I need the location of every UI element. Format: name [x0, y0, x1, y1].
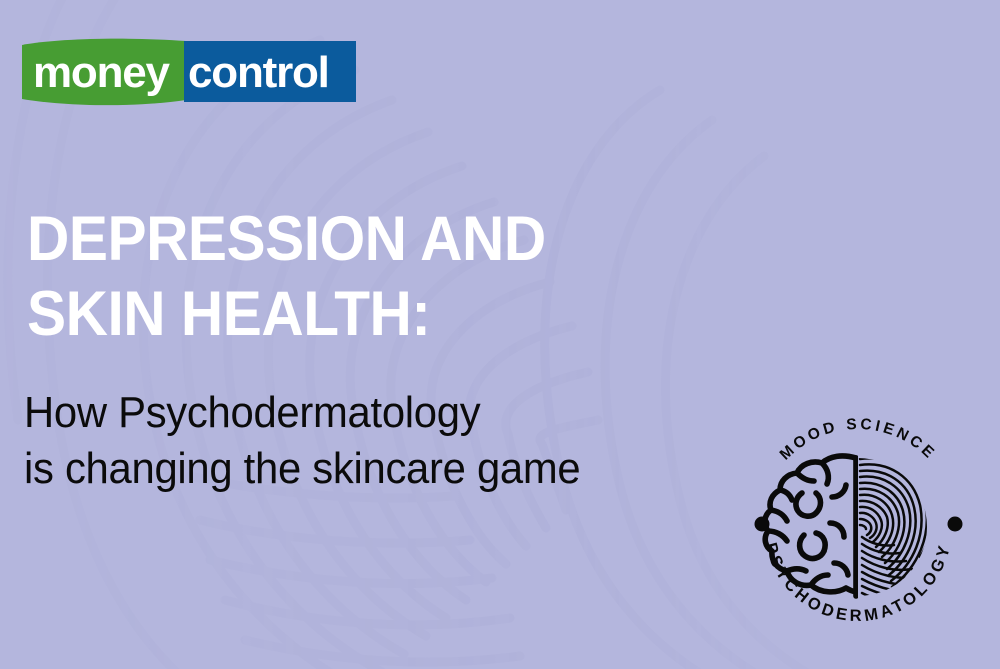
headline-line-2: Skin health:: [27, 277, 678, 352]
badge-dot-right: [948, 517, 963, 532]
badge-top-arc-text: MOOD SCIENCE: [777, 416, 940, 464]
psychodermatology-badge: MOOD SCIENCE PSYCHODERMATOLOGY: [742, 411, 974, 643]
logo-word-money: money: [33, 48, 171, 97]
page-title: Depression and Skin health:: [27, 202, 678, 352]
badge-emblem: [765, 453, 936, 602]
article-cover-card: money control Depression and Skin health…: [0, 0, 1000, 669]
moneycontrol-logo[interactable]: money control: [20, 36, 360, 108]
badge-top-arc-label: MOOD SCIENCE: [777, 416, 940, 464]
headline-line-1: Depression and: [27, 202, 678, 277]
page-subtitle: How Psychodermatology is changing the sk…: [24, 385, 746, 497]
subheadline-line-1: How Psychodermatology: [24, 385, 746, 441]
logo-word-control: control: [188, 48, 329, 97]
subheadline-line-2: is changing the skincare game: [24, 441, 746, 497]
